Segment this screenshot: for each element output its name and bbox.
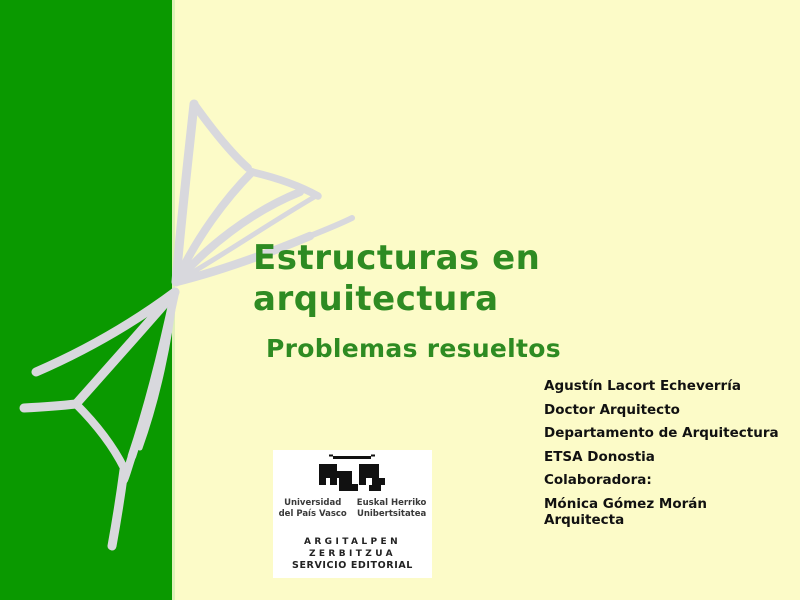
university-logo-panel: Universidad del País Vasco Euskal Herrik… — [273, 450, 432, 578]
collaborator-label: Colaboradora: — [544, 474, 794, 488]
logo-name-spanish-line1: Universidad — [279, 498, 347, 509]
title-line-2: arquitectura — [253, 279, 583, 320]
publisher-line-3: SERVICIO EDITORIAL — [273, 560, 432, 572]
author-block: Agustín Lacort Echeverría Doctor Arquite… — [544, 380, 794, 538]
author-school: ETSA Donostia — [544, 451, 794, 465]
presentation-slide: Estructuras en arquitectura Problemas re… — [0, 0, 800, 600]
title-line-1: Estructuras en — [253, 238, 583, 279]
slide-title: Estructuras en arquitectura — [253, 238, 583, 321]
publisher-line-2: ZERBITZUA — [273, 548, 432, 560]
left-green-band — [0, 0, 172, 600]
author-department: Departamento de Arquitectura — [544, 427, 794, 441]
logo-name-basque-line1: Euskal Herriko — [357, 498, 427, 509]
author-role: Doctor Arquitecto — [544, 404, 794, 418]
logo-name-spanish: Universidad del País Vasco — [279, 498, 347, 519]
upv-ehu-emblem-icon — [309, 454, 395, 498]
collaborator-role: Arquitecta — [544, 514, 794, 528]
slide-subtitle: Problemas resueltos — [266, 334, 561, 363]
collaborator-name: Mónica Gómez Morán — [544, 498, 794, 512]
author-name: Agustín Lacort Echeverría — [544, 380, 794, 394]
logo-name-basque: Euskal Herriko Unibertsitatea — [357, 498, 427, 519]
logo-name-spanish-line2: del País Vasco — [279, 509, 347, 520]
green-band-edge — [172, 0, 175, 600]
logo-university-names: Universidad del País Vasco Euskal Herrik… — [273, 498, 432, 519]
logo-publisher: ARGITALPEN ZERBITZUA SERVICIO EDITORIAL — [273, 536, 432, 573]
publisher-line-1: ARGITALPEN — [273, 536, 432, 548]
logo-name-basque-line2: Unibertsitatea — [357, 509, 427, 520]
